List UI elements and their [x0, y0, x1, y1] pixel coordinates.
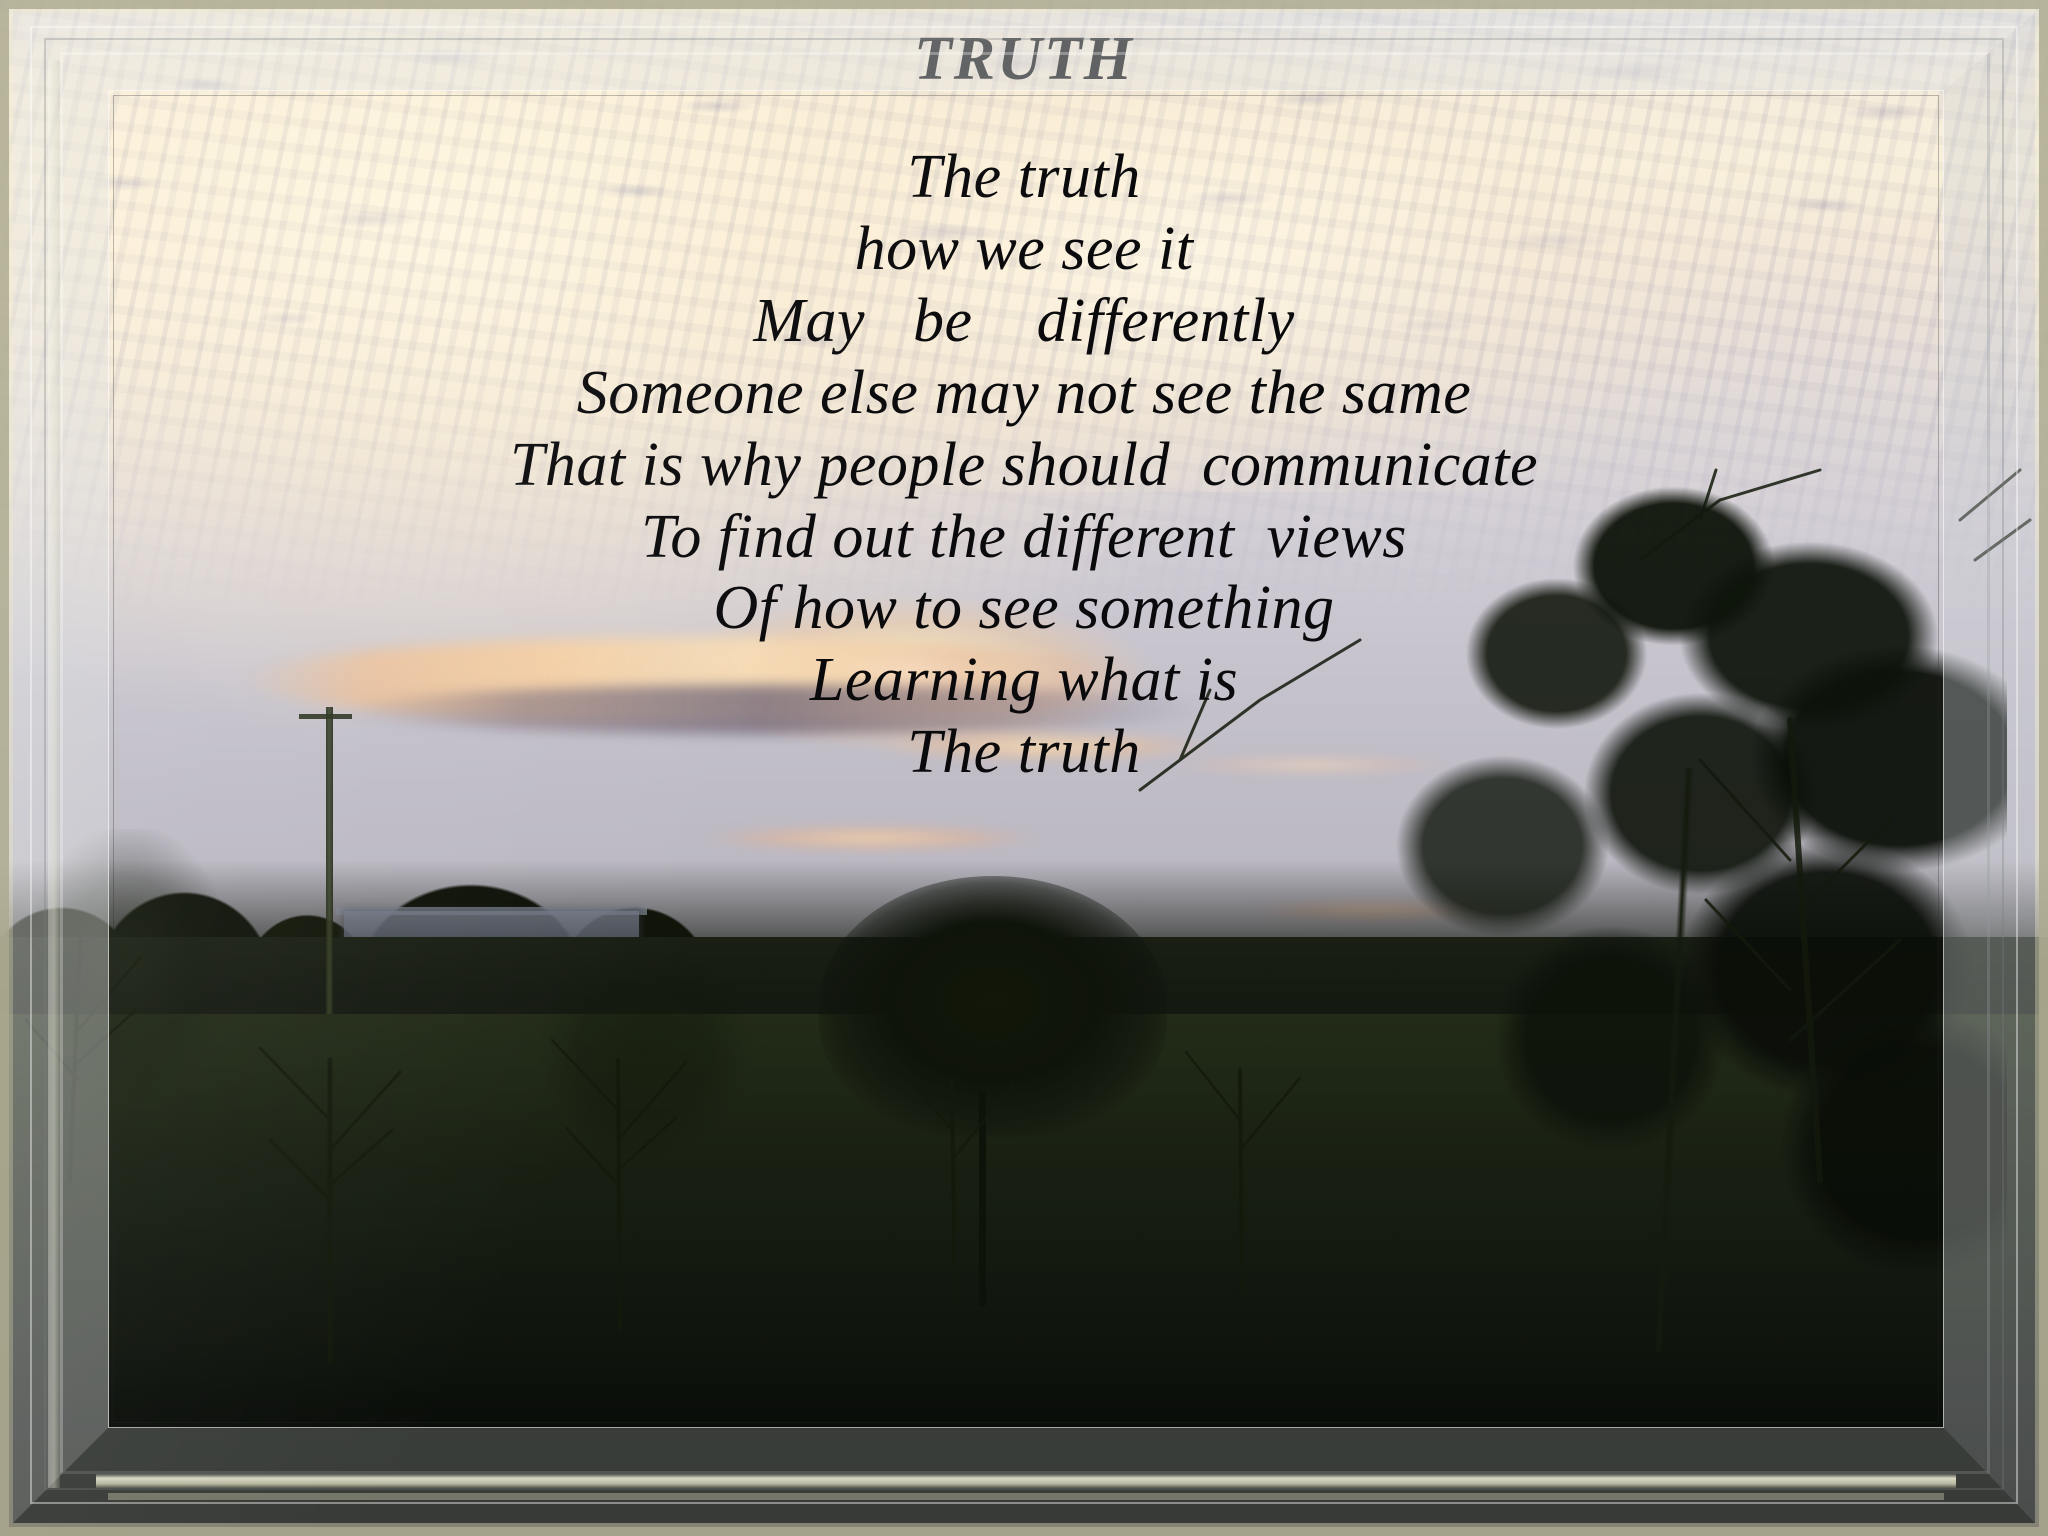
page-title: TRUTH [0, 0, 2048, 90]
poem-line: The truth [0, 142, 2048, 214]
framed-poem-artwork: TRUTH The truth how we see it May be dif… [0, 0, 2048, 1536]
far-left-sapling [20, 829, 245, 1167]
center-tree-trunk [979, 1091, 986, 1306]
sunset-cloud-band-3 [676, 822, 1065, 854]
poem-line: May be differently [0, 286, 2048, 358]
poem-body: The truth how we see it May be different… [0, 90, 2048, 789]
poem-line: That is why people should communicate [0, 430, 2048, 502]
poem-line: The truth [0, 717, 2048, 789]
poem-line: Learning what is [0, 645, 2048, 717]
poem-text-layer: TRUTH The truth how we see it May be dif… [0, 0, 2048, 789]
left-sapling [532, 952, 757, 1198]
poem-line: To find out the different views [0, 502, 2048, 574]
poem-line: Someone else may not see the same [0, 358, 2048, 430]
poem-line: how we see it [0, 214, 2048, 286]
poem-line: Of how to see something [0, 573, 2048, 645]
